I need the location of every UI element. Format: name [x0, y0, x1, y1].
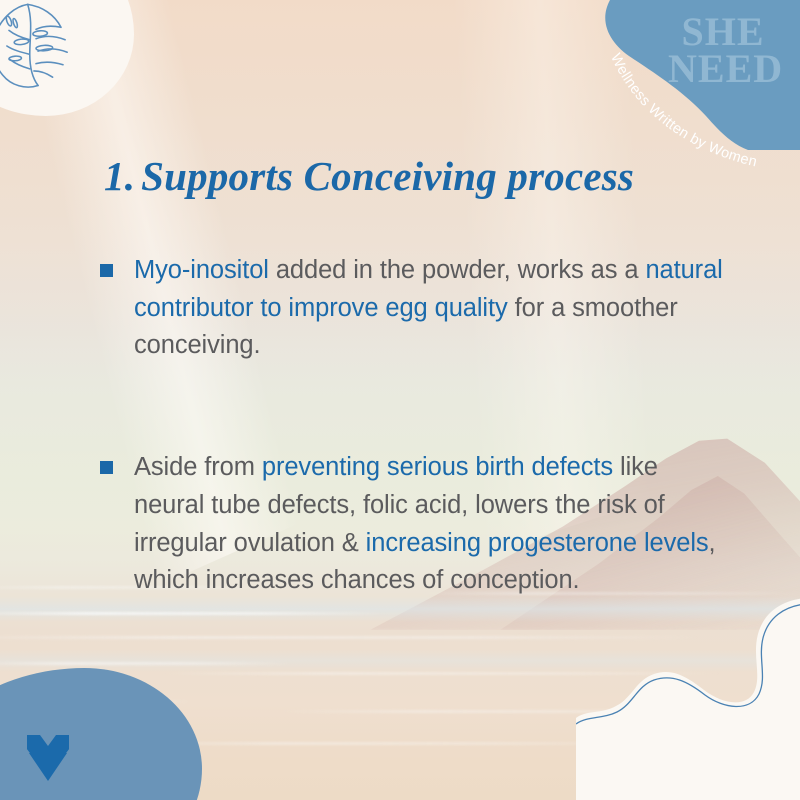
- highlighted-text: Myo-inositol: [134, 256, 269, 284]
- page-title-number: 1.: [104, 153, 135, 199]
- list-item-text: Aside from preventing serious birth defe…: [134, 453, 716, 594]
- page-title-text: Supports Conceiving process: [141, 153, 634, 199]
- highlighted-text: increasing progesterone levels: [366, 529, 709, 557]
- list-item: Myo-inositol added in the powder, works …: [98, 252, 728, 365]
- poster-canvas: SHE NEED Wellness Written by Women 1.Sup…: [0, 0, 800, 800]
- bottom-right-blob: [576, 578, 800, 800]
- square-bullet-icon: [100, 264, 113, 277]
- list-item-text: Myo-inositol added in the powder, works …: [134, 256, 723, 359]
- body-text: Aside from: [134, 453, 262, 481]
- double-chevron-icon: [25, 733, 71, 785]
- body-text: added in the powder, works as a: [269, 256, 646, 284]
- square-bullet-icon: [100, 461, 113, 474]
- highlighted-text: preventing serious birth defects: [262, 453, 613, 481]
- page-title: 1.Supports Conceiving process: [104, 152, 744, 200]
- bullet-list: Myo-inositol added in the powder, works …: [98, 252, 728, 600]
